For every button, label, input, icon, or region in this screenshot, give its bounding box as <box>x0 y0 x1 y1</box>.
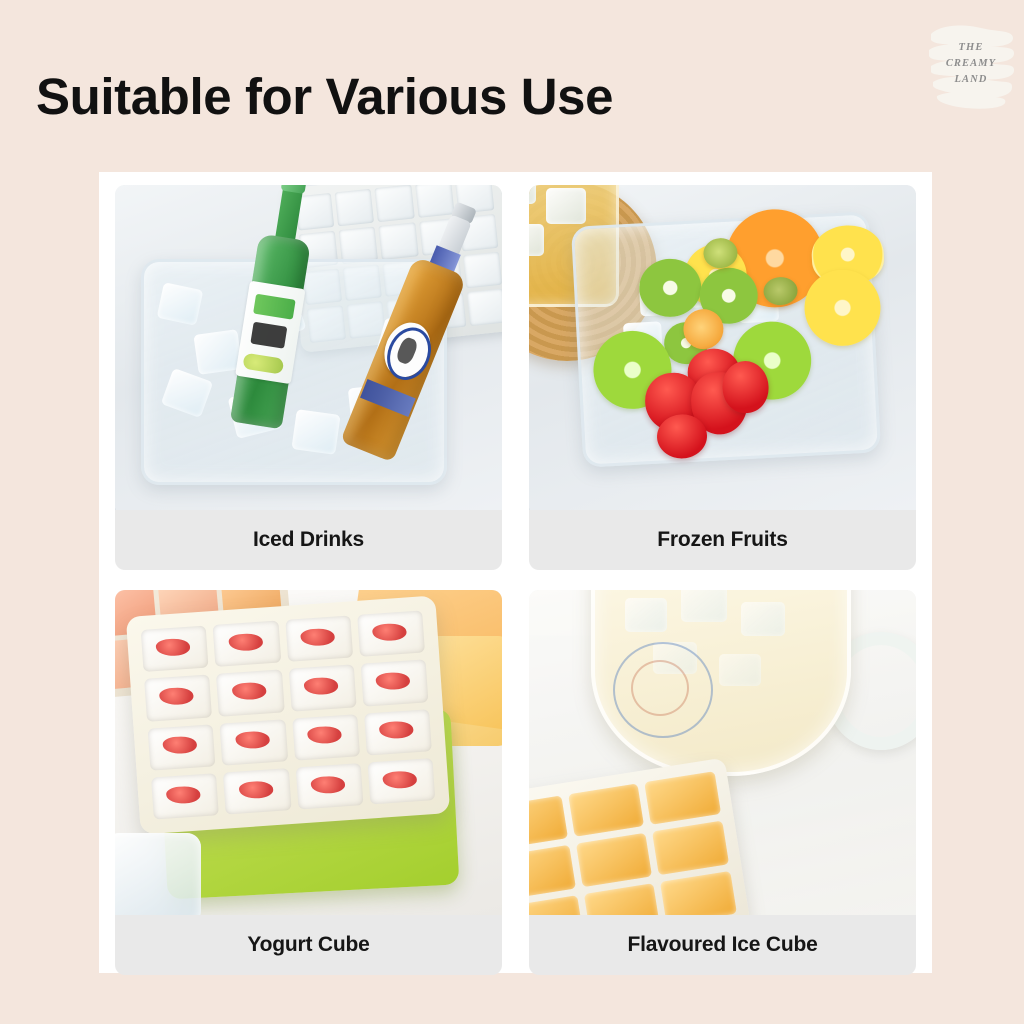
use-case-card-iced-drinks[interactable]: Iced Drinks <box>115 185 502 570</box>
photo-flavoured-ice-cube <box>529 590 916 915</box>
caption-flavoured-ice-cube: Flavoured Ice Cube <box>529 915 916 975</box>
logo-line-1: THE <box>959 40 984 56</box>
logo-line-3: LAND <box>955 72 988 88</box>
photo-iced-drinks <box>115 185 502 510</box>
content-panel: Iced Drinks <box>99 172 932 973</box>
clear-fruit-bin <box>571 211 881 467</box>
strawberry <box>656 413 708 460</box>
photo-frozen-fruits <box>529 185 916 510</box>
ice-cube <box>115 833 201 915</box>
caption-iced-drinks: Iced Drinks <box>115 510 502 570</box>
logo-line-2: CREAMY <box>946 56 996 72</box>
caption-yogurt-cube: Yogurt Cube <box>115 915 502 975</box>
caption-frozen-fruits: Frozen Fruits <box>529 510 916 570</box>
use-case-card-yogurt-cube[interactable]: Yogurt Cube <box>115 590 502 975</box>
use-case-grid: Iced Drinks <box>115 185 916 960</box>
glass-mug-milk-drink <box>591 590 851 776</box>
use-case-card-flavoured-ice-cube[interactable]: Flavoured Ice Cube <box>529 590 916 975</box>
page-title: Suitable for Various Use <box>36 71 613 122</box>
photo-yogurt-cube <box>115 590 502 915</box>
cream-yogurt-tray <box>126 595 450 834</box>
brand-logo: THE CREAMY LAND <box>925 18 1017 110</box>
use-case-card-frozen-fruits[interactable]: Frozen Fruits <box>529 185 916 570</box>
